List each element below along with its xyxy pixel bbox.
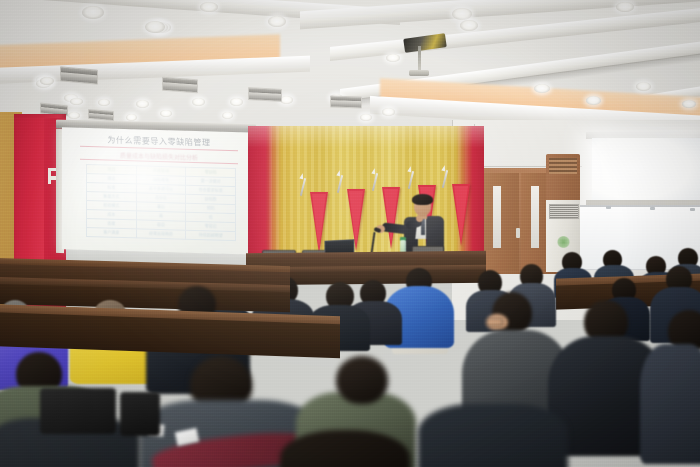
downlight-icon (586, 96, 601, 105)
whiteboard-clip (606, 206, 611, 209)
downlight-icon (222, 112, 233, 119)
downlight-icon (230, 98, 243, 106)
downlight-icon (452, 8, 472, 20)
downlight-icon (616, 2, 634, 12)
door-leaf-left[interactable] (483, 173, 519, 274)
ac-logo-icon (557, 236, 570, 248)
eyeglasses-icon (486, 318, 503, 326)
downlight-icon (98, 99, 110, 106)
conference-room-photo: 为什么需要导入零缺陷管理 质量成本与缺陷损失对比分析 项目传统管理零缺陷理念缺陷… (0, 0, 700, 467)
ac-grille (549, 204, 579, 219)
black-winter-coat (640, 344, 700, 464)
downlight-icon (534, 84, 550, 93)
downlight-icon (40, 77, 54, 85)
door-glass-panel (493, 186, 501, 248)
slide-table: 项目传统管理零缺陷理念缺陷难免第一次做对标准差不多就可以符合要求标准衡量方式百分… (86, 164, 236, 241)
downlight-icon (360, 114, 372, 121)
downlight-icon (70, 98, 83, 105)
downlight-icon (200, 2, 218, 12)
projection-screen: 为什么需要导入零缺陷管理 质量成本与缺陷损失对比分析 项目传统管理零缺陷理念缺陷… (62, 127, 256, 254)
red-triangular-flag (452, 184, 470, 246)
downlight-icon (145, 21, 165, 33)
presenter-hair (412, 194, 433, 205)
ceiling-vent (60, 66, 98, 84)
backdrop-highlight (248, 126, 484, 148)
chair-back[interactable] (40, 388, 116, 434)
downlight-icon (68, 112, 80, 119)
projector-mount-plate (409, 70, 429, 76)
ac-top-vent (549, 158, 577, 174)
whiteboard-clip (690, 208, 695, 211)
ceiling-vent (330, 95, 362, 108)
downlight-icon (636, 82, 651, 91)
downlight-icon (460, 20, 478, 31)
door-glass-panel (531, 186, 539, 248)
downlight-icon (160, 110, 172, 117)
projector-mount-rod (418, 46, 421, 72)
ceiling-vent (248, 87, 282, 102)
downlight-icon (192, 98, 205, 106)
downlight-icon (386, 54, 400, 62)
downlight-icon (126, 114, 137, 121)
slide-table-cell: 经常出现抱怨 (136, 229, 186, 239)
slide-table-cell: 客户满意 (87, 227, 137, 237)
ceiling-vent (162, 77, 198, 94)
downlight-icon (82, 6, 104, 19)
downlight-icon (268, 16, 286, 27)
whiteboard-clip (650, 207, 655, 210)
downlight-icon (136, 100, 149, 108)
black-winter-coat (418, 404, 568, 467)
slide-table-cell: 持续超越期望 (186, 230, 236, 240)
bright-window (592, 138, 700, 204)
ceiling-vent (88, 109, 114, 121)
downlight-icon (682, 100, 696, 108)
chair-back[interactable] (120, 392, 160, 436)
downlight-icon (382, 108, 395, 116)
door-handle[interactable] (516, 228, 520, 238)
